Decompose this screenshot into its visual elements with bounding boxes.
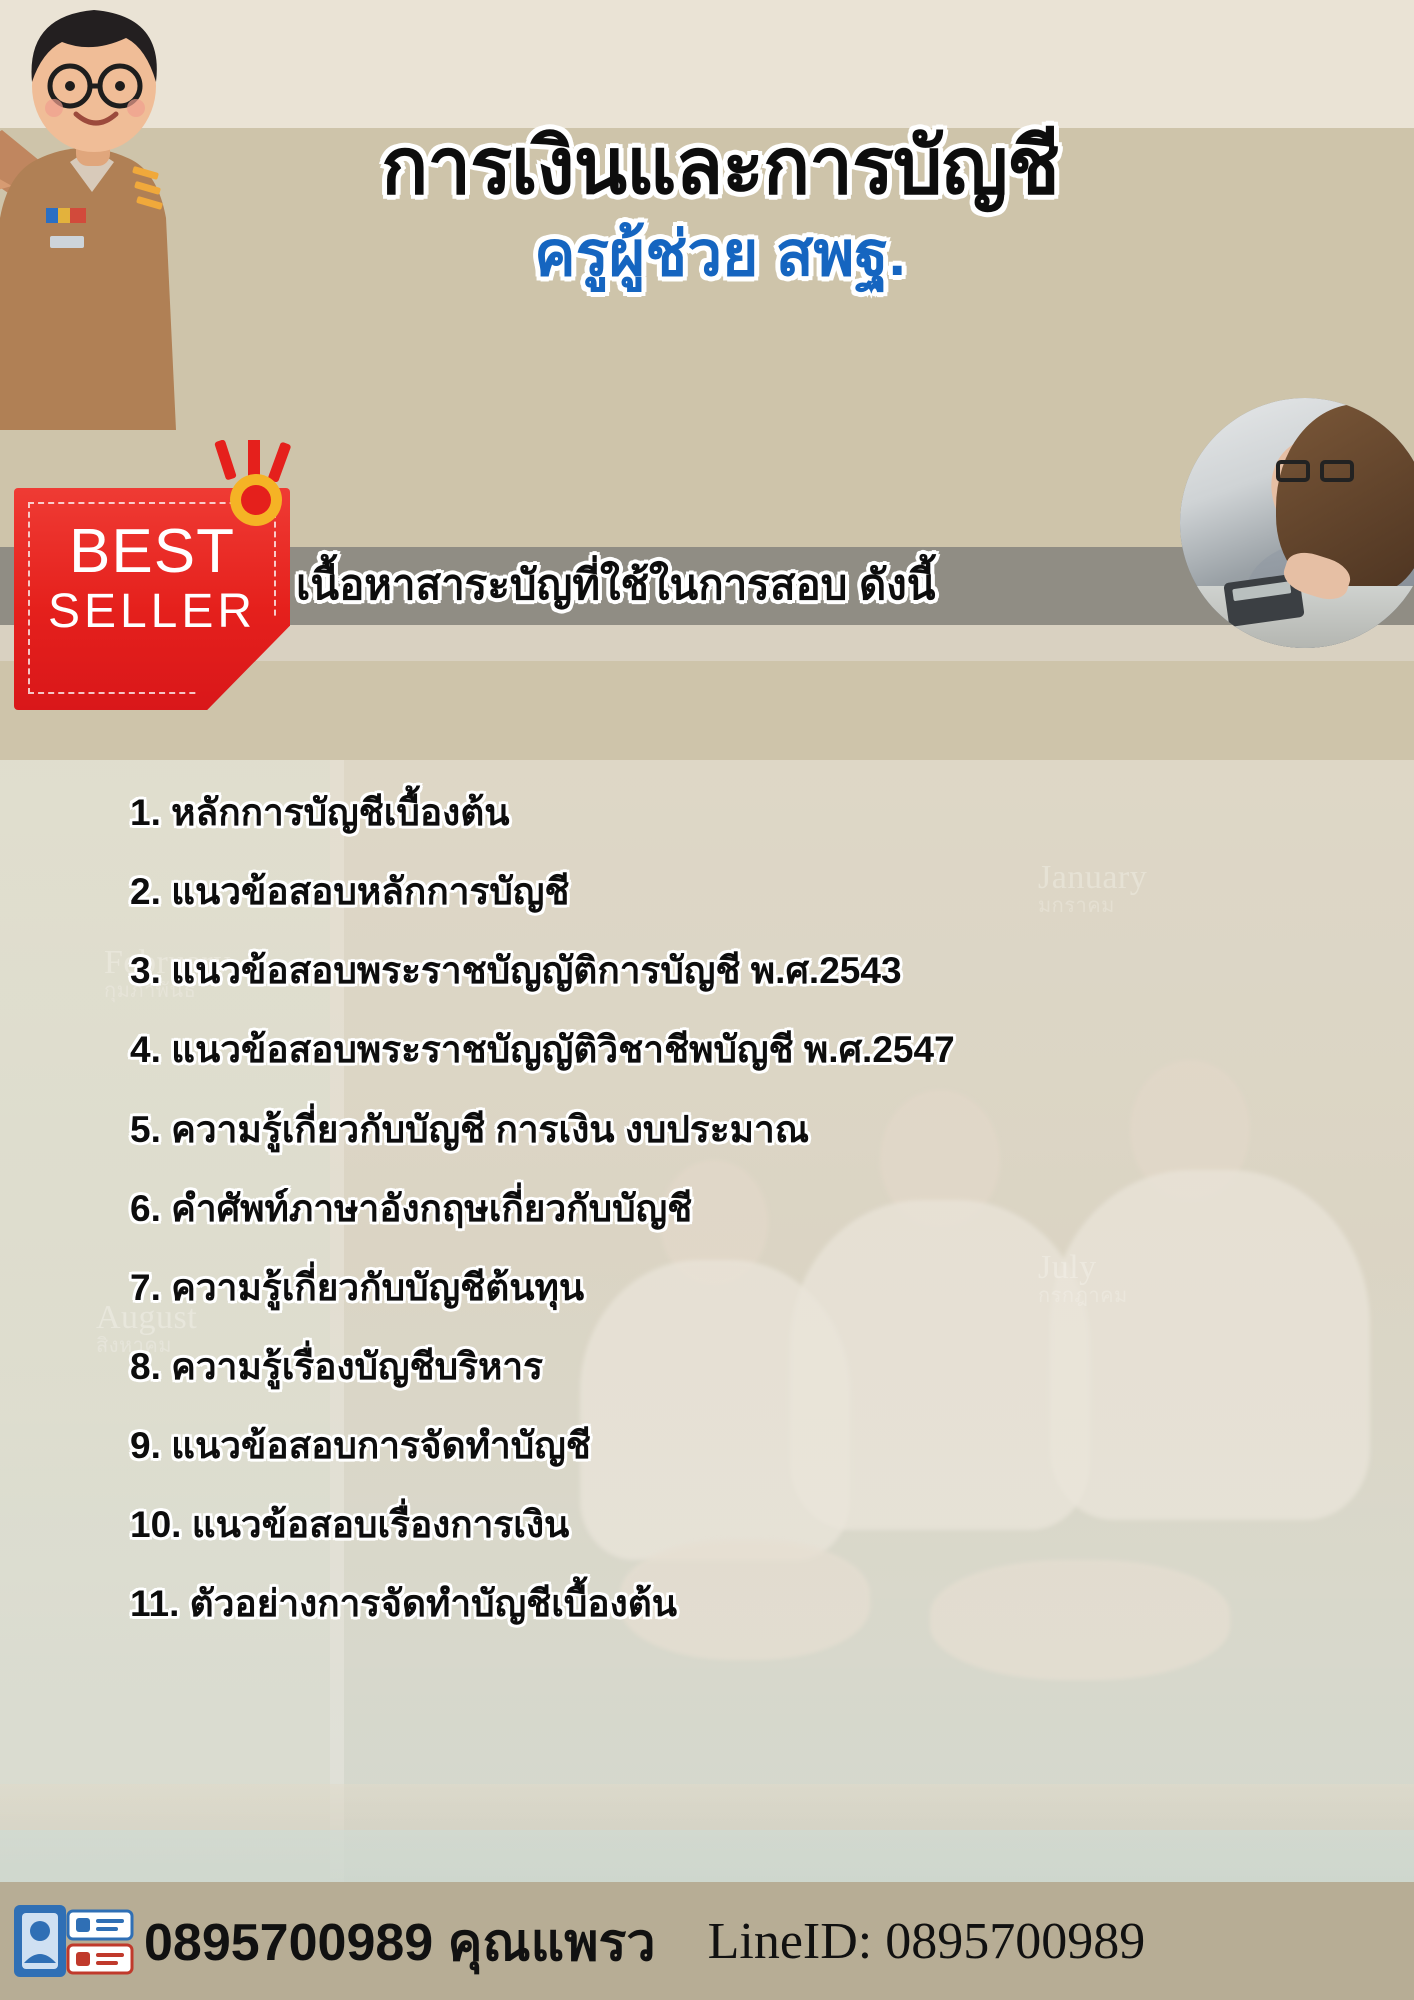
list-item: 11. ตัวอย่างการจัดทำบัญชีเบื้องต้น xyxy=(130,1581,1270,1626)
page-subtitle: ครูผู้ช่วย สพฐ. xyxy=(200,218,1240,292)
list-item: 1. หลักการบัญชีเบื้องต้น xyxy=(130,790,1270,835)
starburst-icon xyxy=(208,440,304,536)
syllabus-list: 1. หลักการบัญชีเบื้องต้น 2. แนวข้อสอบหลั… xyxy=(130,790,1270,1660)
list-item: 3. แนวข้อสอบพระราชบัญญัติการบัญชี พ.ศ.25… xyxy=(130,948,1270,993)
list-item: 10. แนวข้อสอบเรื่องการเงิน xyxy=(130,1502,1270,1547)
contact-footer: 0895700989 คุณแพรว LineID: 0895700989 xyxy=(0,1882,1414,2000)
list-item: 8. ความรู้เรื่องบัญชีบริหาร xyxy=(130,1344,1270,1389)
list-item: 4. แนวข้อสอบพระราชบัญญัติวิชาชีพบัญชี พ.… xyxy=(130,1027,1270,1072)
poster-root: Januaryมกราคม Februaryกุมภาพันธ์ Augustส… xyxy=(0,0,1414,2000)
contact-phone: 0895700989 คุณแพรว xyxy=(144,1900,656,1983)
section-heading: เนื้อหาสาระบัญที่ใช้ในการสอบ ดังนี้ xyxy=(296,552,936,618)
list-item: 2. แนวข้อสอบหลักการบัญชี xyxy=(130,869,1270,914)
list-item: 9. แนวข้อสอบการจัดทำบัญชี xyxy=(130,1423,1270,1468)
list-item: 7. ความรู้เกี่ยวกับบัญชีต้นทุน xyxy=(130,1265,1270,1310)
accountant-photo xyxy=(1180,398,1414,648)
badge-label-seller: SELLER xyxy=(14,584,290,639)
list-item: 6. คำศัพท์ภาษาอังกฤษเกี่ยวกับบัญชี xyxy=(130,1186,1270,1231)
page-title: การเงินและการบัญชี xyxy=(200,120,1240,212)
title-block: การเงินและการบัญชี ครูผู้ช่วย สพฐ. xyxy=(200,120,1240,292)
contact-line-id: LineID: 0895700989 xyxy=(708,1912,1146,1971)
list-item: 5. ความรู้เกี่ยวกับบัญชี การเงิน งบประมา… xyxy=(130,1107,1270,1152)
contact-card-icon xyxy=(8,1897,138,1985)
